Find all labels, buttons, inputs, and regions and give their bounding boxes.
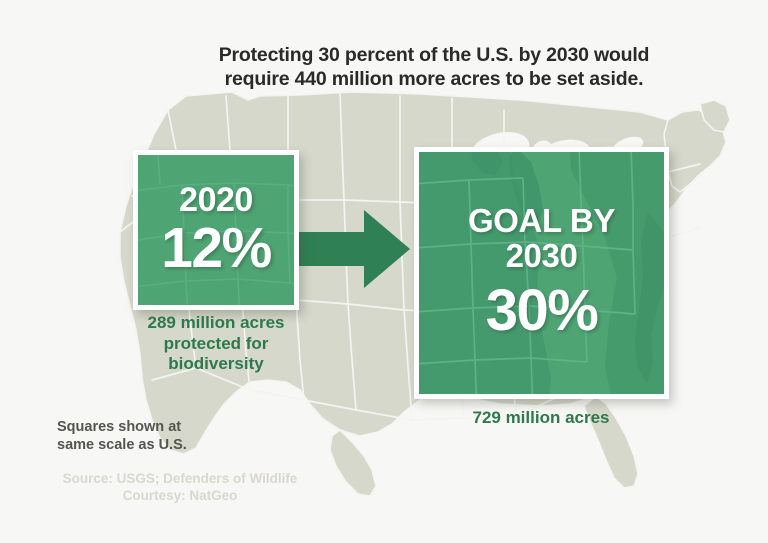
- right-arrow-icon: [296, 210, 410, 288]
- scale-note-line-1: Squares shown at: [57, 419, 287, 437]
- scale-note: Squares shown at same scale as U.S.: [57, 419, 287, 455]
- infographic-canvas: Protecting 30 percent of the U.S. by 203…: [0, 0, 768, 543]
- source-line: Source: USGS; Defenders of Wildlife: [35, 470, 325, 487]
- caption-2020: 289 million acres protected for biodiver…: [110, 313, 322, 375]
- square-2030-labels: GOAL BY 2030 30%: [419, 152, 664, 394]
- headline: Protecting 30 percent of the U.S. by 203…: [178, 44, 690, 92]
- courtesy-line: Courtesy: NatGeo: [35, 487, 325, 504]
- square-2020: 2020 12%: [133, 150, 299, 310]
- square-2030-goal-label: GOAL BY: [468, 204, 615, 238]
- square-2030-year: 2030: [506, 239, 578, 273]
- source-credit: Source: USGS; Defenders of Wildlife Cour…: [35, 470, 325, 504]
- caption-2030: 729 million acres: [430, 408, 652, 428]
- caption-2020-line-3: biodiversity: [110, 354, 322, 375]
- headline-line-2: require 440 million more acres to be set…: [178, 68, 690, 92]
- square-2020-percent: 12%: [161, 219, 271, 277]
- scale-note-line-2: same scale as U.S.: [57, 437, 287, 455]
- headline-line-1: Protecting 30 percent of the U.S. by 203…: [219, 44, 650, 66]
- caption-2020-line-2: protected for: [110, 334, 322, 355]
- square-2020-year: 2020: [179, 183, 253, 217]
- square-2030: GOAL BY 2030 30%: [414, 147, 669, 399]
- square-2020-labels: 2020 12%: [138, 155, 294, 305]
- square-2030-percent: 30%: [486, 281, 598, 342]
- caption-2020-line-1: 289 million acres: [110, 313, 322, 334]
